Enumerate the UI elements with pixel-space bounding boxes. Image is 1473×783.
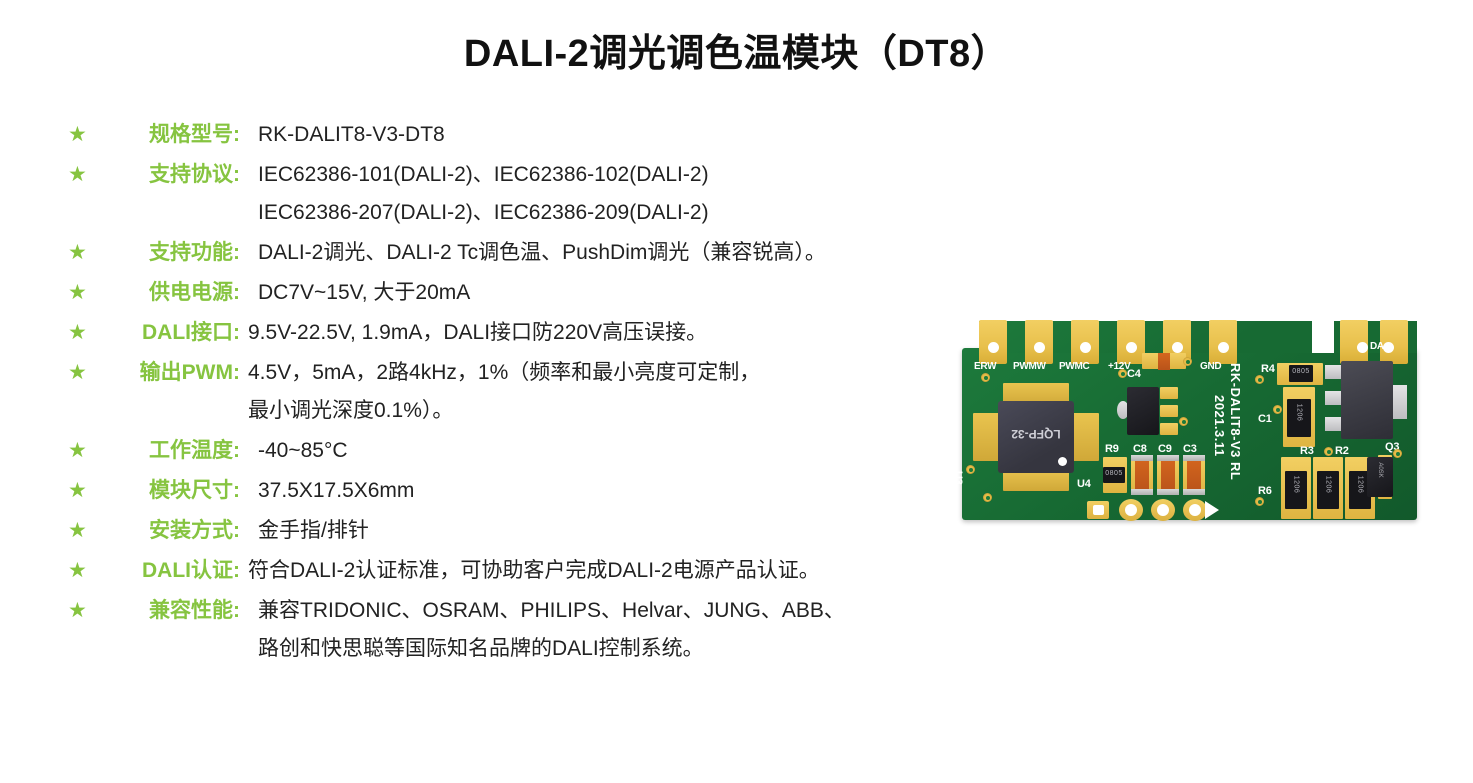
via-1	[981, 373, 990, 382]
via-8	[1273, 405, 1282, 414]
through-hole-2	[1119, 499, 1143, 521]
spec-label: 安装方式:	[94, 512, 242, 550]
cap-c3	[1187, 457, 1201, 493]
pad-q3-1	[1325, 365, 1341, 379]
spec-row-power-supply: ★ 供电电源: DC7V~15V, 大于20mA	[68, 274, 968, 312]
via-9	[1255, 497, 1264, 506]
spec-row-compatibility: ★ 兼容性能: 兼容TRIDONIC、OSRAM、PHILIPS、Helvar、…	[68, 592, 968, 668]
spec-row-pwm-output: ★ 输出PWM: 4.5V，5mA，2路4kHz，1%（频率和最小亮度可定制， …	[68, 354, 968, 430]
transistor-q2: A0SK	[1367, 457, 1393, 497]
pad-reg-3	[1160, 423, 1178, 435]
designator-r4: R4	[1261, 363, 1275, 375]
designator-r3: R3	[1300, 445, 1314, 457]
transistor-code: A0SK	[1377, 457, 1383, 483]
spec-row-functions: ★ 支持功能: DALI-2调光、DALI-2 Tc调色温、PushDim调光（…	[68, 234, 968, 272]
spec-label: 兼容性能:	[94, 592, 242, 630]
designator-u4: U4	[1077, 478, 1091, 490]
chip-pin1-dot	[1058, 457, 1067, 466]
spec-label: DALI认证:	[94, 552, 242, 590]
star-icon: ★	[68, 274, 94, 312]
spec-value-line: 符合DALI-2认证标准，可协助客户完成DALI-2电源产品认证。	[248, 552, 968, 590]
spec-list: ★ 规格型号: RK-DALIT8-V3-DT8 ★ 支持协议: IEC6238…	[68, 116, 968, 670]
cap-c3-term-top	[1183, 455, 1205, 461]
designator-u3: U3	[952, 471, 964, 485]
spec-values: 金手指/排针	[242, 512, 968, 550]
spec-row-dimensions: ★ 模块尺寸: 37.5X17.5X6mm	[68, 472, 968, 510]
resistor-c1: 1206	[1287, 399, 1311, 437]
spec-values: 兼容TRIDONIC、OSRAM、PHILIPS、Helvar、JUNG、ABB…	[242, 592, 968, 668]
resistor-code: 1206	[1293, 474, 1300, 496]
via-10	[1393, 449, 1402, 458]
star-icon: ★	[68, 472, 94, 510]
spec-value-line: 最小调光深度0.1%）。	[248, 392, 968, 430]
cap-c9	[1161, 457, 1175, 493]
spec-values: 符合DALI-2认证标准，可协助客户完成DALI-2电源产品认证。	[242, 552, 968, 590]
star-icon: ★	[68, 592, 94, 630]
resistor-code: 1206	[1325, 474, 1332, 496]
pin-label-pwmc: PWMC	[1059, 361, 1089, 372]
spec-label: 规格型号:	[94, 116, 242, 154]
spec-label: DALI接口:	[94, 314, 242, 352]
spec-value-line: RK-DALIT8-V3-DT8	[258, 116, 968, 154]
via-5	[1183, 357, 1192, 366]
star-icon: ★	[68, 234, 94, 272]
silkscreen-part-number: RK-DALIT8-V3 RL	[1228, 363, 1243, 480]
star-icon: ★	[68, 432, 94, 470]
designator-c8: C8	[1133, 443, 1147, 455]
spec-value-line: 4.5V，5mA，2路4kHz，1%（频率和最小亮度可定制，	[248, 354, 968, 392]
star-icon: ★	[68, 552, 94, 590]
gold-finger-da-2	[1380, 320, 1408, 364]
spec-row-mounting: ★ 安装方式: 金手指/排针	[68, 512, 968, 550]
pcb-board: ERW PWMW PWMC +12V ERC GND DA RK-DALIT8-…	[955, 305, 1425, 525]
via-3	[966, 465, 975, 474]
cap-c9-term-bottom	[1157, 489, 1179, 495]
designator-c4: C4	[1127, 368, 1141, 380]
spec-row-dali-certification: ★ DALI认证: 符合DALI-2认证标准，可协助客户完成DALI-2电源产品…	[68, 552, 968, 590]
pad-reg-1	[1160, 387, 1178, 399]
gold-finger-da-1	[1340, 320, 1368, 364]
star-icon: ★	[68, 314, 94, 352]
resistor-r6: 1206	[1285, 471, 1307, 509]
spec-value-line: 路创和快思聪等国际知名品牌的DALI控制系统。	[258, 630, 968, 668]
star-icon: ★	[68, 116, 94, 154]
chip-pad-left	[973, 413, 999, 461]
spec-values: DALI-2调光、DALI-2 Tc调色温、PushDim调光（兼容锐高）。	[242, 234, 968, 272]
spec-value-line: 金手指/排针	[258, 512, 968, 550]
through-hole-1	[1087, 501, 1109, 519]
resistor-code: 0805	[1289, 368, 1313, 375]
via-4	[1118, 369, 1127, 378]
pad-q3-3	[1325, 417, 1341, 431]
resistor-code: 1206	[1296, 401, 1303, 425]
via-6	[1179, 417, 1188, 426]
spec-values: 4.5V，5mA，2路4kHz，1%（频率和最小亮度可定制， 最小调光深度0.1…	[242, 354, 968, 430]
component-q3	[1341, 361, 1393, 439]
resistor-code: 0805	[1103, 470, 1125, 477]
pcb-notch	[1312, 319, 1334, 353]
spec-label: 供电电源:	[94, 274, 242, 312]
spec-row-model: ★ 规格型号: RK-DALIT8-V3-DT8	[68, 116, 968, 154]
spec-value-line: IEC62386-207(DALI-2)、IEC62386-209(DALI-2…	[258, 194, 968, 232]
designator-r9: R9	[1105, 443, 1119, 455]
spec-label: 支持协议:	[94, 156, 242, 194]
pad-reg-2	[1160, 405, 1178, 417]
chip-pad-right	[1073, 413, 1099, 461]
spec-value-line: IEC62386-101(DALI-2)、IEC62386-102(DALI-2…	[258, 156, 968, 194]
product-image-pcb-module: ERW PWMW PWMC +12V ERC GND DA RK-DALIT8-…	[955, 305, 1425, 540]
page-title: DALI-2调光调色温模块（DT8）	[0, 22, 1473, 77]
spec-row-protocols: ★ 支持协议: IEC62386-101(DALI-2)、IEC62386-10…	[68, 156, 968, 232]
spec-row-operating-temperature: ★ 工作温度: -40~85°C	[68, 432, 968, 470]
designator-c9: C9	[1158, 443, 1172, 455]
spec-value-line: DC7V~15V, 大于20mA	[258, 274, 968, 312]
star-icon: ★	[68, 156, 94, 194]
cap-c8-term-top	[1131, 455, 1153, 461]
spec-values: DC7V~15V, 大于20mA	[242, 274, 968, 312]
regulator-sot223	[1127, 387, 1159, 435]
gold-finger-pwmw	[1025, 320, 1053, 364]
spec-label: 支持功能:	[94, 234, 242, 272]
resistor-code: 1206	[1357, 474, 1364, 496]
pin-label-erw: ERW	[974, 361, 996, 372]
chip-label: LQFP-32	[998, 427, 1074, 441]
polarity-triangle-marker	[1205, 501, 1219, 519]
resistor-r9: 0805	[1103, 467, 1125, 483]
gold-finger-pwmc	[1071, 320, 1099, 364]
through-hole-3	[1151, 499, 1175, 521]
gold-finger-12v	[1117, 320, 1145, 364]
star-icon: ★	[68, 354, 94, 392]
pad-q3-2	[1325, 391, 1341, 405]
silkscreen-date: 2021.3.11	[1212, 395, 1227, 457]
spec-label: 工作温度:	[94, 432, 242, 470]
mcu-chip-lqfp32: LQFP-32	[998, 401, 1074, 473]
spec-values: -40~85°C	[242, 432, 968, 470]
pad-q3-tab	[1393, 385, 1407, 419]
pin-label-pwmw: PWMW	[1013, 361, 1046, 372]
designator-r2: R2	[1335, 445, 1349, 457]
spec-value-line: 9.5V-22.5V, 1.9mA，DALI接口防220V高压误接。	[248, 314, 968, 352]
spec-values: 37.5X17.5X6mm	[242, 472, 968, 510]
spec-values: IEC62386-101(DALI-2)、IEC62386-102(DALI-2…	[242, 156, 968, 232]
spec-value-line: 兼容TRIDONIC、OSRAM、PHILIPS、Helvar、JUNG、ABB…	[258, 592, 968, 630]
resistor-r3: 1206	[1317, 471, 1339, 509]
star-icon: ★	[68, 512, 94, 550]
spec-values: 9.5V-22.5V, 1.9mA，DALI接口防220V高压误接。	[242, 314, 968, 352]
gold-finger-gnd	[1209, 320, 1237, 364]
cap-c8	[1135, 457, 1149, 493]
gold-finger-erw	[979, 320, 1007, 364]
spec-value-line: DALI-2调光、DALI-2 Tc调色温、PushDim调光（兼容锐高）。	[258, 234, 968, 272]
cap-c4	[1158, 353, 1170, 370]
pin-label-gnd: GND	[1200, 361, 1221, 372]
spec-label: 模块尺寸:	[94, 472, 242, 510]
resistor-r4: 0805	[1289, 365, 1313, 382]
cap-c3-term-bottom	[1183, 489, 1205, 495]
designator-c1: C1	[1258, 413, 1272, 425]
through-hole-4	[1183, 499, 1207, 521]
spec-label: 输出PWM:	[94, 354, 242, 392]
cap-c8-term-bottom	[1131, 489, 1153, 495]
designator-c3: C3	[1183, 443, 1197, 455]
spec-value-line: -40~85°C	[258, 432, 968, 470]
via-11	[1324, 447, 1333, 456]
designator-r6: R6	[1258, 485, 1272, 497]
via-7	[1255, 375, 1264, 384]
via-2	[983, 493, 992, 502]
cap-c9-term-top	[1157, 455, 1179, 461]
spec-row-dali-interface: ★ DALI接口: 9.5V-22.5V, 1.9mA，DALI接口防220V高…	[68, 314, 968, 352]
spec-values: RK-DALIT8-V3-DT8	[242, 116, 968, 154]
pin-label-da: DA	[1370, 341, 1384, 352]
spec-value-line: 37.5X17.5X6mm	[258, 472, 968, 510]
